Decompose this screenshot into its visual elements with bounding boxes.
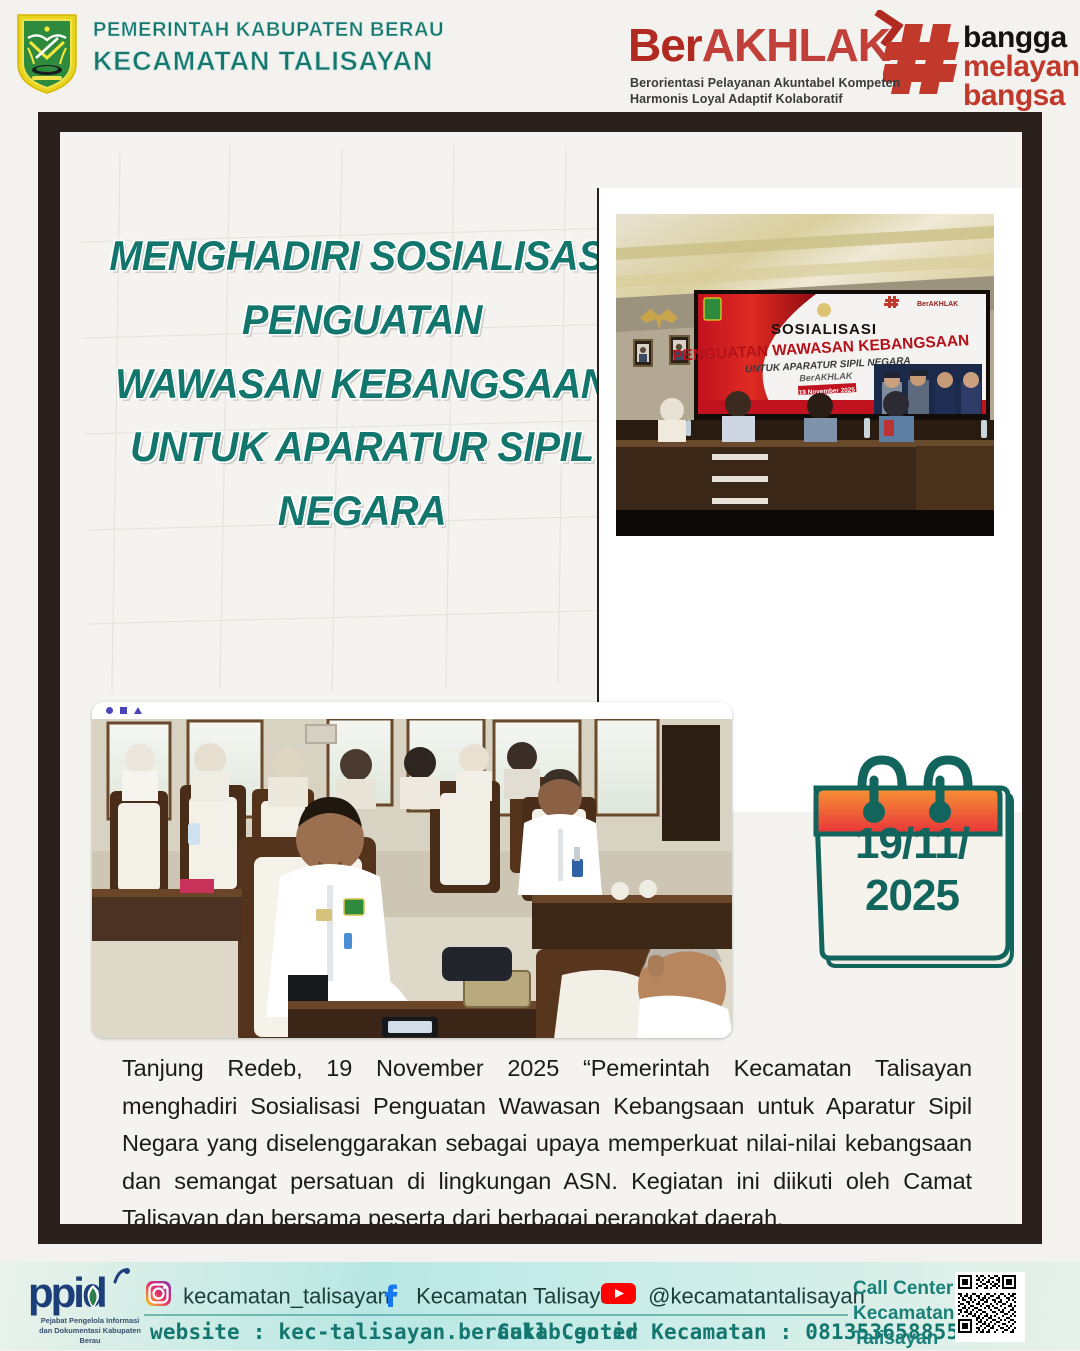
article-caption: Tanjung Redeb, 19 November 2025 “Pemerin…	[122, 1050, 972, 1224]
tagline-line-1: Berorientasi Pelayanan Akuntabel Kompete…	[630, 76, 900, 92]
title-line-5: NEGARA	[101, 479, 624, 543]
header-titles: PEMERINTAH KABUPATEN BERAU KECAMATAN TAL…	[93, 18, 444, 79]
page-header: PEMERINTAH KABUPATEN BERAU KECAMATAN TAL…	[0, 0, 1080, 110]
berakhlak-akhlak: AKHLAK	[702, 19, 890, 71]
title-line-1: MENGHADIRI SOSIALISASI	[101, 224, 624, 288]
header-line-kecamatan: KECAMATAN TALISAYAN	[93, 45, 444, 79]
content-canvas: MENGHADIRI SOSIALISASI PENGUATAN WAWASAN…	[60, 132, 1022, 1224]
page-footer: ppid Pejabat Pengelola Informasi dan Dok…	[0, 1262, 1080, 1350]
tagline-line-2: Harmonis Loyal Adaptif Kolaboratif	[630, 92, 900, 108]
facebook-icon	[378, 1280, 405, 1313]
ppid-logo: ppid Pejabat Pengelola Informasi dan Dok…	[28, 1268, 148, 1344]
photo-meeting-participants	[92, 702, 732, 1038]
title-line-2: PENGUATAN	[101, 288, 624, 352]
slogan-bangga: bangga	[963, 24, 1080, 53]
instagram-icon	[145, 1280, 172, 1313]
svg-text:BerAKHLAK: BerAKHLAK	[917, 301, 958, 308]
calendar-date-line1: 19/11/	[804, 818, 1020, 870]
call-center-line-3: Talisayan	[853, 1326, 954, 1351]
calendar-date-line2: 2025	[804, 870, 1020, 922]
phone-status-bar	[92, 702, 732, 719]
instagram-handle: kecamatan_talisayan	[183, 1284, 390, 1309]
content-frame: MENGHADIRI SOSIALISASI PENGUATAN WAWASAN…	[38, 112, 1042, 1244]
calendar-date: 19/11/ 2025	[804, 818, 1020, 922]
square-icon	[120, 707, 127, 714]
slogan-bangsa: bangsa	[963, 82, 1080, 111]
call-center-line-1: Call Center	[853, 1276, 954, 1301]
berau-regency-crest-icon	[14, 12, 80, 96]
call-center-block: Call Center Kecamatan Talisayan	[853, 1276, 954, 1351]
sprout-icon	[112, 1268, 130, 1284]
berakhlak-logo: BerAKHLAK bangga melayani bangsa Beror	[628, 10, 1068, 106]
berakhlak-ber: Ber	[628, 19, 702, 71]
svg-text:SOSIALISASI: SOSIALISASI	[771, 321, 877, 338]
ppid-subtitle: Pejabat Pengelola Informasi dan Dokument…	[34, 1316, 146, 1345]
calendar-icon: 19/11/ 2025	[804, 746, 1020, 978]
berakhlak-wordmark: BerAKHLAK	[628, 22, 890, 68]
berakhlak-tagline: Berorientasi Pelayanan Akuntabel Kompete…	[630, 76, 900, 108]
social-youtube[interactable]: @kecamatantalisayan	[600, 1280, 865, 1313]
social-instagram[interactable]: kecamatan_talisayan	[145, 1280, 390, 1313]
circle-icon	[106, 707, 113, 714]
title-line-4: UNTUK APARATUR SIPIL	[101, 415, 624, 479]
header-line-kabupaten: PEMERINTAH KABUPATEN BERAU	[93, 18, 444, 43]
triangle-icon	[134, 707, 142, 714]
leaf-icon	[82, 1284, 104, 1310]
youtube-icon	[600, 1280, 637, 1313]
call-center-line-2: Kecamatan	[853, 1301, 954, 1326]
page-title: MENGHADIRI SOSIALISASI PENGUATAN WAWASAN…	[101, 224, 624, 543]
slogan-melayani: melayani	[963, 53, 1080, 82]
social-facebook[interactable]: Kecamatan Talisayan	[378, 1280, 625, 1313]
qr-code-icon[interactable]	[955, 1272, 1025, 1342]
youtube-handle: @kecamatantalisayan	[648, 1284, 865, 1309]
photo-presentation-room: BerAKHLAK SOSIALISASI PENGUATAN WAWASAN …	[616, 214, 994, 536]
bangga-melayani-bangsa-slogan: bangga melayani bangsa	[963, 24, 1080, 110]
title-line-3: WAWASAN KEBANGSAAN	[101, 352, 624, 416]
footer-divider	[144, 1314, 848, 1316]
facebook-handle: Kecamatan Talisayan	[416, 1284, 625, 1309]
